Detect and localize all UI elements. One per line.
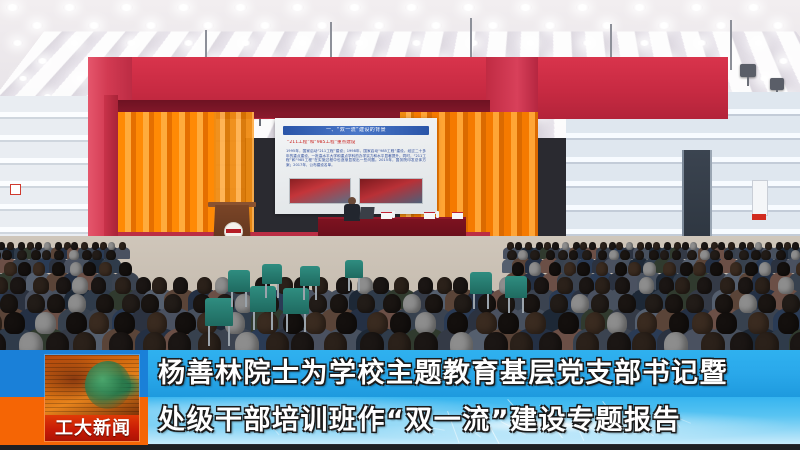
slide-body-text: 1995年，国家启动“211工程”建设；1998年，国家启动“985工程”建设。… — [286, 149, 426, 173]
audience-head — [761, 250, 771, 261]
audience-head — [147, 312, 168, 334]
ceiling-downlight — [373, 22, 385, 29]
ceiling-downlight — [411, 40, 422, 46]
audience-head — [615, 277, 630, 293]
audience-head — [7, 242, 14, 250]
audience-head — [755, 277, 770, 293]
ceiling-downlight — [487, 22, 499, 29]
ceiling-downlight — [259, 22, 271, 29]
audience-head — [710, 262, 723, 276]
headline-line-1: 杨善林院士为学校主题教育基层党支部书记暨 — [158, 350, 798, 397]
audience-head — [759, 262, 772, 276]
ceiling-downlight — [69, 40, 80, 46]
ceiling-downlight — [582, 40, 593, 46]
audience-head — [595, 277, 610, 293]
chair-leg — [208, 326, 210, 346]
audience-head — [197, 277, 212, 293]
ceiling-downlight — [63, 4, 76, 11]
ceiling-downlight — [31, 22, 43, 29]
chair-leg — [271, 312, 273, 330]
ceiling-downlight — [715, 22, 727, 29]
audience-head — [515, 242, 522, 250]
ceiling-downlight — [37, 58, 48, 64]
audience-head — [792, 242, 799, 250]
audience-head — [68, 294, 86, 313]
ceiling-downlight — [633, 4, 646, 11]
audience-head — [91, 277, 106, 293]
ceiling-downlight — [297, 40, 308, 46]
audience-head — [108, 242, 115, 250]
audience-head — [92, 250, 102, 261]
speaker-body — [344, 204, 360, 221]
ceiling-downlight — [747, 4, 760, 11]
audience-head — [83, 262, 96, 276]
audience-head — [665, 294, 683, 313]
audience-head — [141, 294, 159, 313]
wall-notice-board — [752, 180, 768, 216]
audience-head — [119, 242, 126, 250]
chair-leg — [473, 294, 475, 309]
chair-leg — [358, 278, 360, 291]
audience-head — [373, 277, 388, 293]
audience-head — [164, 294, 182, 313]
audience-head — [716, 312, 737, 334]
audience-head — [525, 312, 546, 334]
light-suspension-rod — [730, 20, 732, 70]
auditorium-chair — [262, 264, 282, 284]
stage-spotlight — [740, 64, 756, 77]
ceiling-downlight — [291, 4, 304, 11]
ceiling-downlight — [525, 40, 536, 46]
globe-icon — [45, 355, 140, 415]
audience-head — [558, 312, 579, 334]
video-frame: 一、“双一流”建设的背景 “211工程”和“985工程”重点建设 1995年，国… — [0, 0, 800, 450]
lower-third-banner: 工大新闻 杨善林院士为学校主题教育基层党支部书记暨 处级干部培训班作“双一流”建… — [0, 350, 800, 445]
audience-head — [44, 242, 51, 250]
chair-leg — [286, 314, 288, 332]
ceiling-downlight — [405, 4, 418, 11]
ceiling-downlight — [75, 76, 85, 81]
audience-head — [776, 250, 786, 261]
ceiling-downlight — [120, 4, 133, 11]
ceiling-downlight — [544, 22, 556, 29]
audience-head — [114, 312, 135, 334]
audience-head — [453, 277, 468, 293]
name-card — [381, 212, 392, 219]
audience-head — [710, 250, 720, 261]
audience-head — [562, 242, 569, 250]
ceiling-downlight — [753, 40, 764, 46]
audience-head — [591, 294, 609, 313]
audience-head — [69, 250, 79, 261]
audience-head — [765, 242, 772, 250]
audience-head — [498, 312, 519, 334]
station-logo-block: 工大新闻 — [0, 350, 148, 445]
headline-line-2: 处级干部培训班作“双一流”建设专题报告 — [158, 397, 798, 444]
audience-head — [0, 294, 18, 313]
laptop — [359, 207, 374, 219]
audience-head — [686, 294, 704, 313]
audience-head — [512, 262, 525, 276]
headline-line-1-row: 杨善林院士为学校主题教育基层党支部书记暨 — [148, 350, 800, 398]
audience-head — [755, 242, 762, 250]
slide-subtitle: “211工程”和“985工程”重点建设 — [287, 140, 425, 146]
chair-leg — [315, 286, 317, 300]
audience-head — [119, 262, 132, 276]
water-bottle — [436, 211, 439, 218]
ceiling-downlight — [316, 22, 328, 29]
audience-head — [72, 277, 87, 293]
audience-head — [52, 262, 65, 276]
audience-head — [663, 262, 676, 276]
audience-head — [552, 242, 559, 250]
audience-head — [10, 277, 25, 293]
audience-head — [693, 262, 706, 276]
audience-head — [728, 242, 735, 250]
chair-leg — [277, 284, 279, 298]
audience-head — [99, 262, 112, 276]
audience-head — [257, 312, 278, 334]
slide-title-bar: 一、“双一流”建设的背景 — [283, 126, 429, 135]
chair-leg — [303, 286, 305, 300]
ceiling-downlight — [88, 22, 100, 29]
audience-head — [618, 294, 636, 313]
chair-leg — [253, 312, 255, 330]
auditorium-chair — [250, 286, 276, 312]
station-logo: 工大新闻 — [44, 354, 140, 442]
chair-leg — [508, 298, 510, 313]
ceiling-downlight — [519, 4, 532, 11]
chair-leg — [265, 284, 267, 298]
chair-leg — [228, 326, 230, 346]
audience-head — [518, 250, 528, 261]
ceiling-downlight — [772, 22, 784, 29]
water-bottle — [392, 211, 395, 218]
audience-head — [637, 312, 658, 334]
chair-leg — [231, 292, 233, 307]
ceiling-downlight — [240, 40, 251, 46]
auditorium-chair — [470, 272, 492, 294]
audience-head — [33, 277, 48, 293]
auditorium-chair — [283, 288, 309, 314]
audience-head — [330, 294, 348, 313]
chair-leg — [348, 278, 350, 291]
audience-head — [525, 242, 532, 250]
wall-notice-strip — [752, 214, 766, 220]
auditorium-chair — [505, 276, 527, 298]
audience-head — [33, 262, 46, 276]
audience-head — [152, 277, 167, 293]
audience-head — [394, 277, 409, 293]
audience-head — [425, 294, 443, 313]
audience-head — [626, 242, 633, 250]
audience-head — [534, 277, 549, 293]
audience-head — [35, 312, 56, 334]
audience-head — [357, 294, 375, 313]
logo-name-bar: 工大新闻 — [45, 415, 140, 442]
headline-block: 杨善林院士为学校主题教育基层党支部书记暨 处级干部培训班作“双一流”建设专题报告 — [148, 350, 800, 445]
auditorium-chair — [345, 260, 363, 278]
auditorium-chair — [228, 270, 250, 292]
headline-line-2-row: 处级干部培训班作“双一流”建设专题报告 — [148, 397, 800, 444]
audience-head — [577, 262, 590, 276]
audience-head — [529, 262, 542, 276]
speaker-figure — [344, 197, 360, 221]
audience-head — [403, 294, 421, 313]
name-card — [424, 212, 435, 219]
audience-head — [106, 250, 116, 261]
audience-head — [569, 250, 579, 261]
ceiling-downlight — [18, 76, 28, 81]
ceiling-downlight — [430, 22, 442, 29]
auditorium-chair — [300, 266, 320, 286]
ceiling-downlight — [12, 40, 23, 46]
audience-head — [653, 242, 660, 250]
audience-head — [715, 294, 733, 313]
audience-head — [305, 312, 326, 334]
audience-head — [778, 277, 793, 293]
audience-head — [643, 262, 656, 276]
audience-head — [777, 262, 790, 276]
station-name: 工大新闻 — [45, 417, 140, 441]
audience-head — [173, 277, 188, 293]
audience-head — [596, 262, 609, 276]
audience-head — [89, 312, 110, 334]
slide-title: 一、“双一流”建设的背景 — [283, 127, 429, 134]
ceiling-downlight — [759, 76, 769, 81]
audience-head — [336, 312, 357, 334]
slide-image-right — [359, 178, 423, 204]
audience-head — [54, 250, 64, 261]
audience-head — [675, 277, 690, 293]
audience-head — [672, 250, 682, 261]
audience-head — [81, 242, 88, 250]
stage-spotlight — [770, 78, 784, 90]
chair-leg — [245, 292, 247, 307]
ceiling-downlight — [639, 40, 650, 46]
ceiling-downlight — [778, 58, 789, 64]
audience-head — [71, 242, 78, 250]
audience-head — [115, 277, 130, 293]
audience-head — [2, 250, 12, 261]
audience-head — [454, 294, 472, 313]
audience-head — [697, 277, 712, 293]
auditorium-chair — [205, 298, 233, 326]
audience-head — [17, 250, 27, 261]
audience-head — [4, 312, 25, 334]
audience-head — [447, 312, 468, 334]
audience-head — [96, 294, 114, 313]
exit-sign-icon — [10, 184, 21, 195]
ceiling-downlight — [177, 4, 190, 11]
ceiling-downlight — [658, 22, 670, 29]
audience-head — [690, 242, 697, 250]
audience-head — [620, 250, 630, 261]
frame-bottom-strip — [0, 445, 800, 450]
ceiling-downlight — [202, 22, 214, 29]
chair-leg — [522, 298, 524, 313]
name-card — [452, 212, 463, 219]
audience-head — [796, 262, 800, 276]
audience-head — [758, 294, 776, 313]
ceiling-downlight — [183, 40, 194, 46]
ceiling-downlight — [696, 40, 707, 46]
ceiling-downlight — [690, 4, 703, 11]
chair-leg — [487, 294, 489, 309]
ceiling-downlight — [145, 22, 157, 29]
audience-head — [530, 250, 540, 261]
ceiling-downlight — [462, 4, 475, 11]
audience-head — [687, 250, 697, 261]
audience-head — [782, 294, 800, 313]
slide-image-left — [289, 178, 351, 204]
audience-head — [582, 250, 592, 261]
ceiling-downlight — [354, 40, 365, 46]
audience-head — [639, 277, 654, 293]
audience-head — [557, 277, 572, 293]
ceiling-downlight — [126, 40, 137, 46]
ceiling-downlight — [6, 4, 19, 11]
ceiling-downlight — [576, 4, 589, 11]
chair-leg — [304, 314, 306, 332]
audience-head — [589, 242, 596, 250]
ceiling-downlight — [234, 4, 247, 11]
audience-head — [730, 262, 743, 276]
ceiling-downlight — [348, 4, 361, 11]
